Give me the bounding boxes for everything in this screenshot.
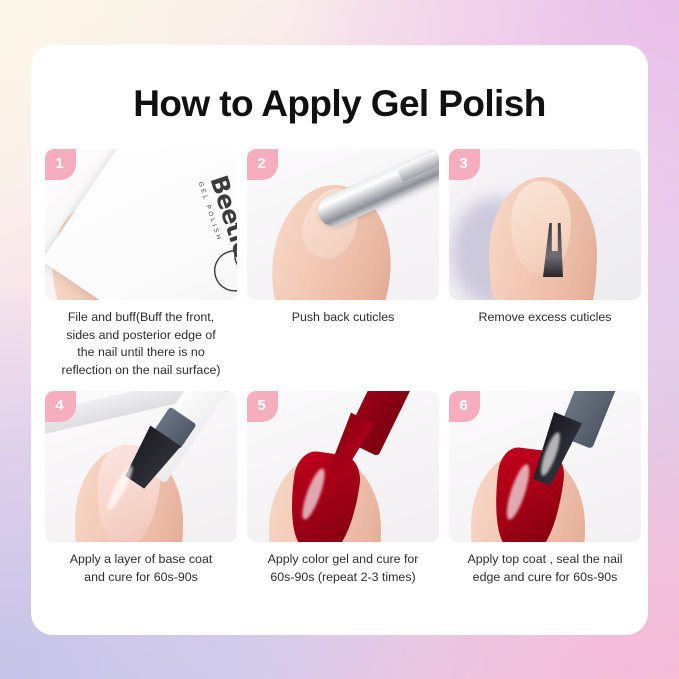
step-item-4: 4 Apply a layer of base coat and cure fo… (45, 391, 237, 586)
step-caption-6: Apply top coat , seal the nail edge and … (449, 551, 641, 586)
step-6-top-coat-photo: 6 (449, 391, 641, 542)
step-item-1: Beetles GEL POLISH 1 File and buff(Buff … (45, 149, 237, 379)
step-2-push-back-cuticles-photo: 2 (247, 149, 439, 300)
steps-row-bottom: 4 Apply a layer of base coat and cure fo… (31, 391, 648, 586)
step-caption-5: Apply color gel and cure for 60s-90s (re… (247, 551, 439, 586)
step-1-file-and-buff-photo: Beetles GEL POLISH 1 (45, 149, 237, 300)
instructions-card: How to Apply Gel Polish Beetles GEL POLI… (31, 45, 648, 635)
step-item-6: 6 Apply top coat , seal the nail edge an… (449, 391, 641, 586)
step-4-base-coat-photo: 4 (45, 391, 237, 542)
step-3-remove-excess-cuticles-photo: 3 (449, 149, 641, 300)
step-item-3: 3 Remove excess cuticles (449, 149, 641, 379)
step-item-5: 5 Apply color gel and cure for 60s-90s (… (247, 391, 439, 586)
step-5-color-gel-photo: 5 (247, 391, 439, 542)
page-title: How to Apply Gel Polish (31, 83, 648, 125)
step-caption-1: File and buff(Buff the front, sides and … (45, 309, 237, 379)
step-caption-4: Apply a layer of base coat and cure for … (45, 551, 237, 586)
step-caption-2: Push back cuticles (247, 309, 439, 327)
steps-row-top: Beetles GEL POLISH 1 File and buff(Buff … (31, 149, 648, 379)
step-caption-3: Remove excess cuticles (449, 309, 641, 327)
step-item-2: 2 Push back cuticles (247, 149, 439, 379)
